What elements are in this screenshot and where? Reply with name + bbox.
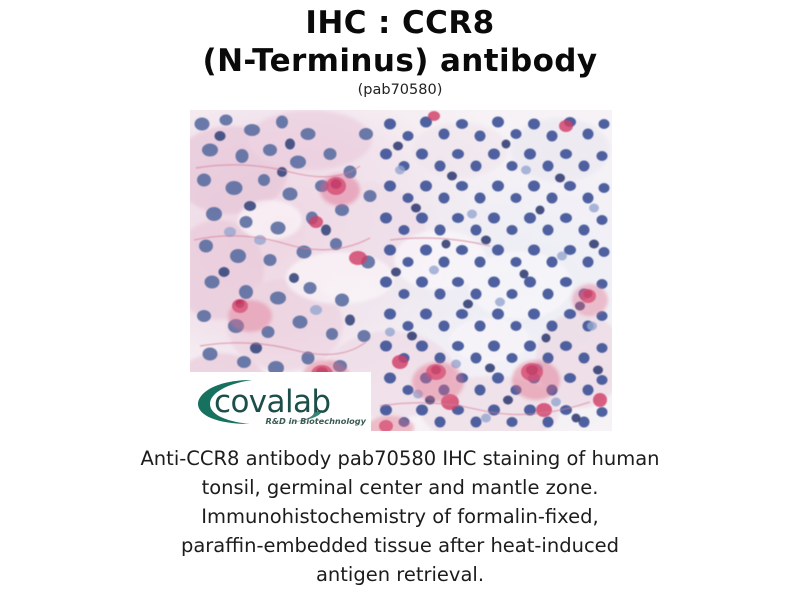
catalog-number: (pab70580) <box>0 81 800 99</box>
logo-wordmark: covalab <box>214 384 330 420</box>
product-figure-page: IHC : CCR8 (N-Terminus) antibody (pab705… <box>0 0 800 600</box>
covalab-logo-svg: covalab R&D in Biotechnology <box>190 372 371 431</box>
caption-line: Immunohistochemistry of formalin-fixed, <box>0 502 800 531</box>
figure-caption: Anti-CCR8 antibody pab70580 IHC staining… <box>0 444 800 589</box>
caption-line: antigen retrieval. <box>0 560 800 589</box>
caption-line: paraffin-embedded tissue after heat-indu… <box>0 531 800 560</box>
page-title: IHC : CCR8 (N-Terminus) antibody (pab705… <box>0 4 800 99</box>
caption-line: tonsil, germinal center and mantle zone. <box>0 473 800 502</box>
title-line-secondary: (N-Terminus) antibody <box>0 42 800 80</box>
title-line-primary: IHC : CCR8 <box>0 4 800 42</box>
logo-tagline: R&D in Biotechnology <box>266 416 367 426</box>
covalab-logo: covalab R&D in Biotechnology <box>190 372 371 431</box>
caption-line: Anti-CCR8 antibody pab70580 IHC staining… <box>0 444 800 473</box>
